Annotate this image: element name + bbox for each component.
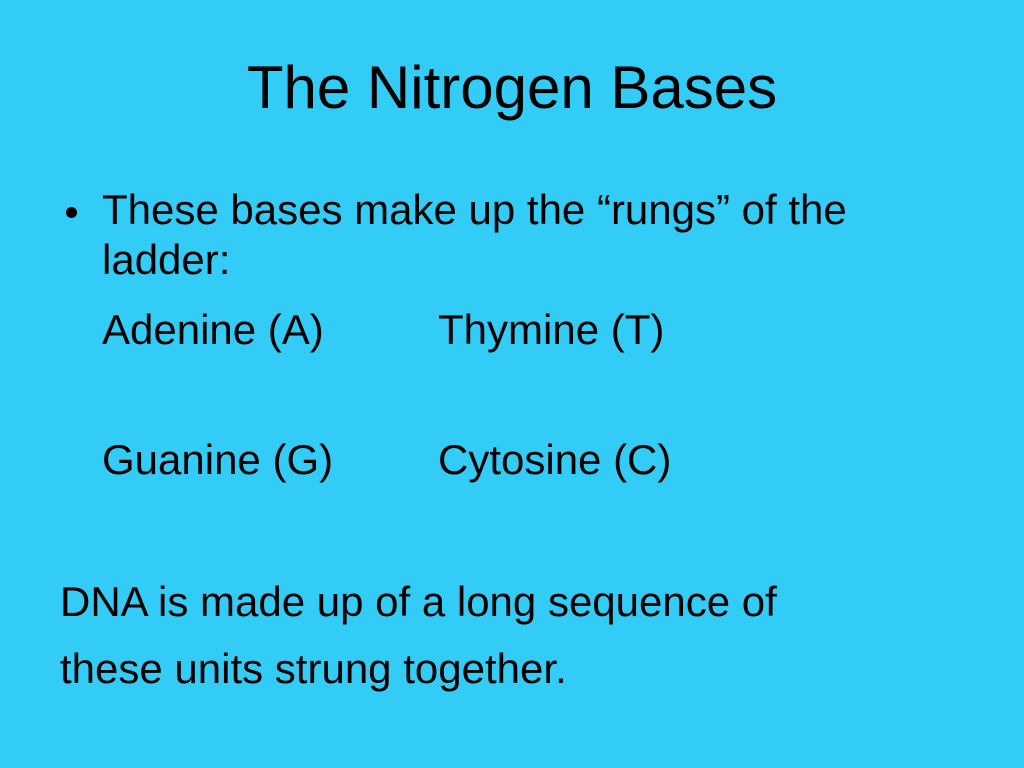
slide-body: These bases make up the “rungs” of the l… — [58, 185, 968, 485]
base-pair-right: Thymine (T) — [438, 305, 664, 355]
page-title: The Nitrogen Bases — [0, 56, 1024, 120]
base-pair-row: Guanine (G)Cytosine (C) — [58, 435, 968, 485]
base-pair-left: Adenine (A) — [102, 305, 438, 355]
bullet-dot-icon — [66, 207, 77, 218]
bullet-text: These bases make up the “rungs” of the l… — [102, 185, 958, 285]
base-pair-left: Guanine (G) — [102, 435, 438, 485]
list-item: These bases make up the “rungs” of the l… — [58, 185, 968, 285]
closing-line-1: DNA is made up of a long sequence of — [60, 568, 960, 635]
closing-line-2: these units strung together. — [60, 635, 960, 702]
base-pair-row: Adenine (A)Thymine (T) — [58, 305, 968, 355]
slide-canvas: The Nitrogen Bases These bases make up t… — [0, 0, 1024, 768]
base-pair-right: Cytosine (C) — [438, 435, 671, 485]
spacer — [58, 355, 968, 435]
closing-paragraph: DNA is made up of a long sequence of the… — [60, 568, 960, 702]
spacer — [58, 285, 968, 305]
